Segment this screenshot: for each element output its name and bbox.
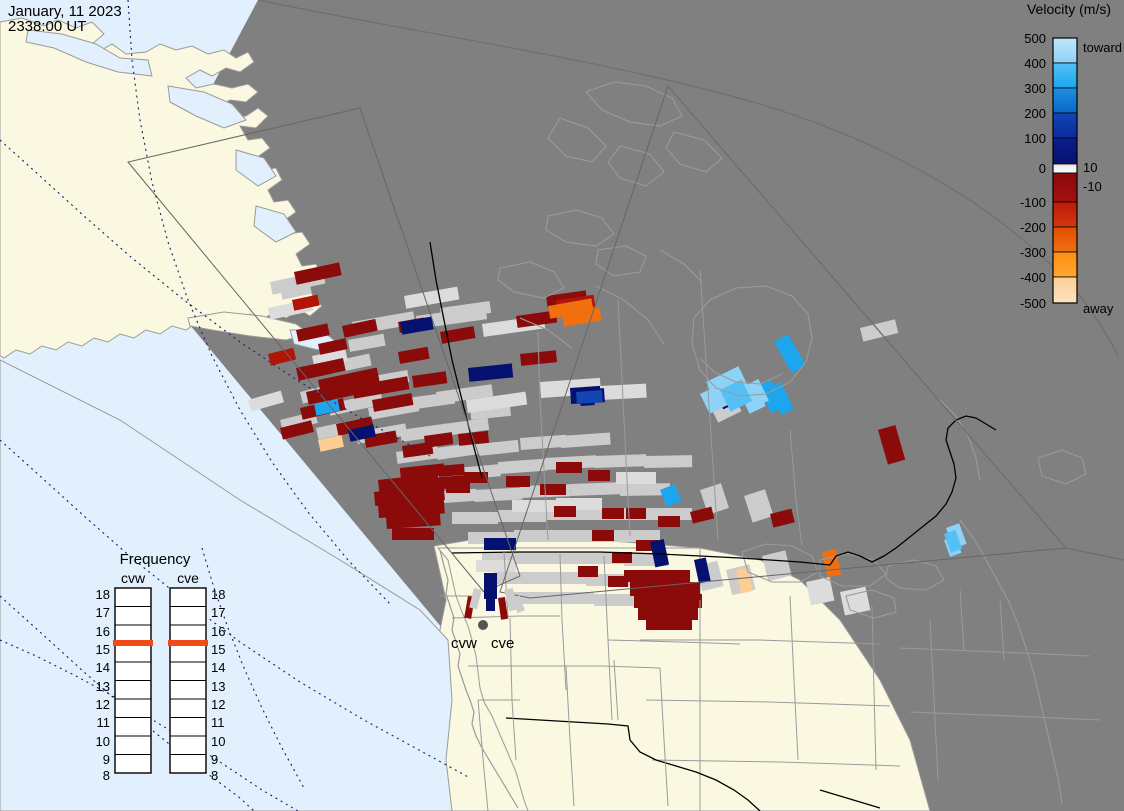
frequency-tick: 10 — [211, 734, 225, 749]
radar-site-label-cvw: cvw — [451, 635, 477, 652]
frequency-tick: 15 — [96, 642, 110, 657]
colorbar-tick: 300 — [1024, 81, 1046, 96]
frequency-tick: 18 — [96, 587, 110, 602]
radar-map-figure: cvw cve January, 11 2023 2338:00 UT Velo… — [0, 0, 1124, 811]
frequency-tick: 17 — [211, 605, 225, 620]
frequency-tick: 11 — [211, 715, 225, 730]
frequency-tick: 18 — [211, 587, 225, 602]
frequency-column-label-cvw: cvw — [121, 570, 146, 586]
colorbar-title: Velocity (m/s) — [1027, 1, 1111, 17]
colorbar-tick: -200 — [1020, 220, 1046, 235]
frequency-tick: 14 — [96, 660, 110, 675]
map-canvas: cvw cve January, 11 2023 2338:00 UT Velo… — [0, 0, 1124, 811]
frequency-tick: 9 — [103, 752, 110, 767]
colorbar-negative-threshold: -10 — [1083, 179, 1102, 194]
colorbar-tick: -500 — [1020, 296, 1046, 311]
colorbar-tick: 0 — [1039, 161, 1046, 176]
frequency-marker-cve — [168, 640, 208, 646]
frequency-tick: 9 — [211, 752, 218, 767]
colorbar-tick: 400 — [1024, 56, 1046, 71]
frequency-tick: 16 — [96, 624, 110, 639]
colorbar-toward-label: toward — [1083, 40, 1122, 55]
frequency-tick: 11 — [97, 715, 111, 730]
colorbar-tick: 500 — [1024, 31, 1046, 46]
frequency-scale-cvw — [113, 588, 153, 773]
frequency-tick: 13 — [211, 679, 225, 694]
colorbar-tick: -300 — [1020, 245, 1046, 260]
colorbar-positive-threshold: 10 — [1083, 160, 1097, 175]
frequency-tick: 16 — [211, 624, 225, 639]
colorbar-away-label: away — [1083, 301, 1114, 316]
colorbar-tick: 200 — [1024, 106, 1046, 121]
timestamp-time: 2338:00 UT — [8, 18, 86, 35]
frequency-tick: 15 — [211, 642, 225, 657]
frequency-tick: 12 — [211, 697, 225, 712]
frequency-tick: 8 — [103, 768, 110, 783]
frequency-tick: 8 — [211, 768, 218, 783]
frequency-tick: 14 — [211, 660, 225, 675]
colorbar-tick: 100 — [1024, 131, 1046, 146]
frequency-tick: 17 — [96, 605, 110, 620]
radar-site-markers — [478, 620, 488, 630]
frequency-marker-cvw — [113, 640, 153, 646]
frequency-tick: 10 — [96, 734, 110, 749]
frequency-legend-title: Frequency — [120, 551, 191, 568]
frequency-column-label-cve: cve — [177, 570, 199, 586]
frequency-tick: 13 — [96, 679, 110, 694]
colorbar-tick: -400 — [1020, 270, 1046, 285]
frequency-tick: 12 — [96, 697, 110, 712]
radar-site-label-cve: cve — [491, 635, 514, 652]
colorbar-tick: -100 — [1020, 195, 1046, 210]
frequency-scale-cve — [168, 588, 208, 773]
colorbar-bands — [1053, 38, 1077, 303]
